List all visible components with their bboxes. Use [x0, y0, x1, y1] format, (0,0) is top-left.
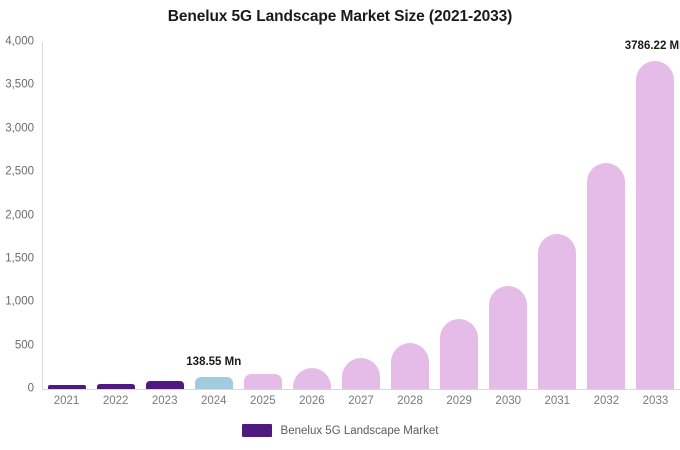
bar-2028[interactable] [391, 42, 429, 389]
bar-2024[interactable] [195, 42, 233, 389]
bar-fill-2022 [97, 384, 135, 389]
bar-fill-2028 [391, 343, 429, 389]
y-axis-tick-0: 0 [28, 383, 34, 395]
legend-swatch-benelux-5g-landscape-market [242, 424, 272, 437]
y-axis-tick-4000: 4,000 [5, 36, 34, 48]
chart-legend: Benelux 5G Landscape Market [0, 424, 680, 437]
x-axis-tick-2031: 2031 [545, 396, 571, 408]
y-axis-tick-2000: 2,000 [5, 210, 34, 222]
bar-fill-2024 [195, 377, 233, 389]
bar-2033[interactable] [636, 42, 674, 389]
y-axis-tick-2500: 2,500 [5, 166, 34, 178]
bar-fill-2032 [587, 163, 625, 389]
bar-2029[interactable] [440, 42, 478, 389]
x-axis-tick-2026: 2026 [299, 396, 325, 408]
x-axis-tick-2022: 2022 [103, 396, 129, 408]
y-axis-tick-3500: 3,500 [5, 80, 34, 92]
bar-2025[interactable] [244, 42, 282, 389]
bar-fill-2025 [244, 374, 282, 389]
x-axis-tick-2021: 2021 [54, 396, 80, 408]
x-axis-tick-2029: 2029 [446, 396, 472, 408]
bar-fill-2030 [489, 286, 527, 389]
bar-2031[interactable] [538, 42, 576, 389]
x-axis-tick-2027: 2027 [348, 396, 374, 408]
x-axis-tick-2030: 2030 [495, 396, 521, 408]
bar-fill-2026 [293, 368, 331, 389]
bar-fill-2023 [146, 381, 184, 389]
bar-2027[interactable] [342, 42, 380, 389]
bar-2026[interactable] [293, 42, 331, 389]
bar-fill-2021 [48, 385, 86, 389]
x-axis-tick-2028: 2028 [397, 396, 423, 408]
bar-value-label-2024: 138.55 Mn [186, 357, 241, 369]
x-axis-tick-2033: 2033 [643, 396, 669, 408]
bar-2021[interactable] [48, 42, 86, 389]
y-axis-tick-1000: 1,000 [5, 297, 34, 309]
y-axis-tick-labels: 05001,0001,5002,0002,5003,0003,5004,000 [0, 42, 42, 389]
x-axis-tick-2032: 2032 [594, 396, 620, 408]
bar-value-label-2033: 3786.22 Mn [625, 41, 680, 53]
bar-fill-2027 [342, 358, 380, 389]
x-axis-tick-2025: 2025 [250, 396, 276, 408]
x-axis-tick-2023: 2023 [152, 396, 178, 408]
bar-2023[interactable] [146, 42, 184, 389]
bar-fill-2031 [538, 234, 576, 389]
bar-fill-2033 [636, 61, 674, 389]
bar-fill-2029 [440, 319, 478, 389]
bar-2022[interactable] [97, 42, 135, 389]
y-axis-tick-1500: 1,500 [5, 253, 34, 265]
y-axis-tick-500: 500 [15, 340, 34, 352]
bar-2032[interactable] [587, 42, 625, 389]
y-axis-tick-3000: 3,000 [5, 123, 34, 135]
legend-label-benelux-5g-landscape-market: Benelux 5G Landscape Market [281, 425, 439, 437]
chart-title: Benelux 5G Landscape Market Size (2021-2… [0, 8, 680, 26]
x-axis-tick-2024: 2024 [201, 396, 227, 408]
plot-area: 138.55 Mn3786.22 Mn [42, 42, 680, 389]
bar-chart: Benelux 5G Landscape Market Size (2021-2… [0, 0, 680, 450]
bar-2030[interactable] [489, 42, 527, 389]
x-axis-line [42, 389, 680, 390]
bar-series: 138.55 Mn3786.22 Mn [42, 42, 680, 389]
